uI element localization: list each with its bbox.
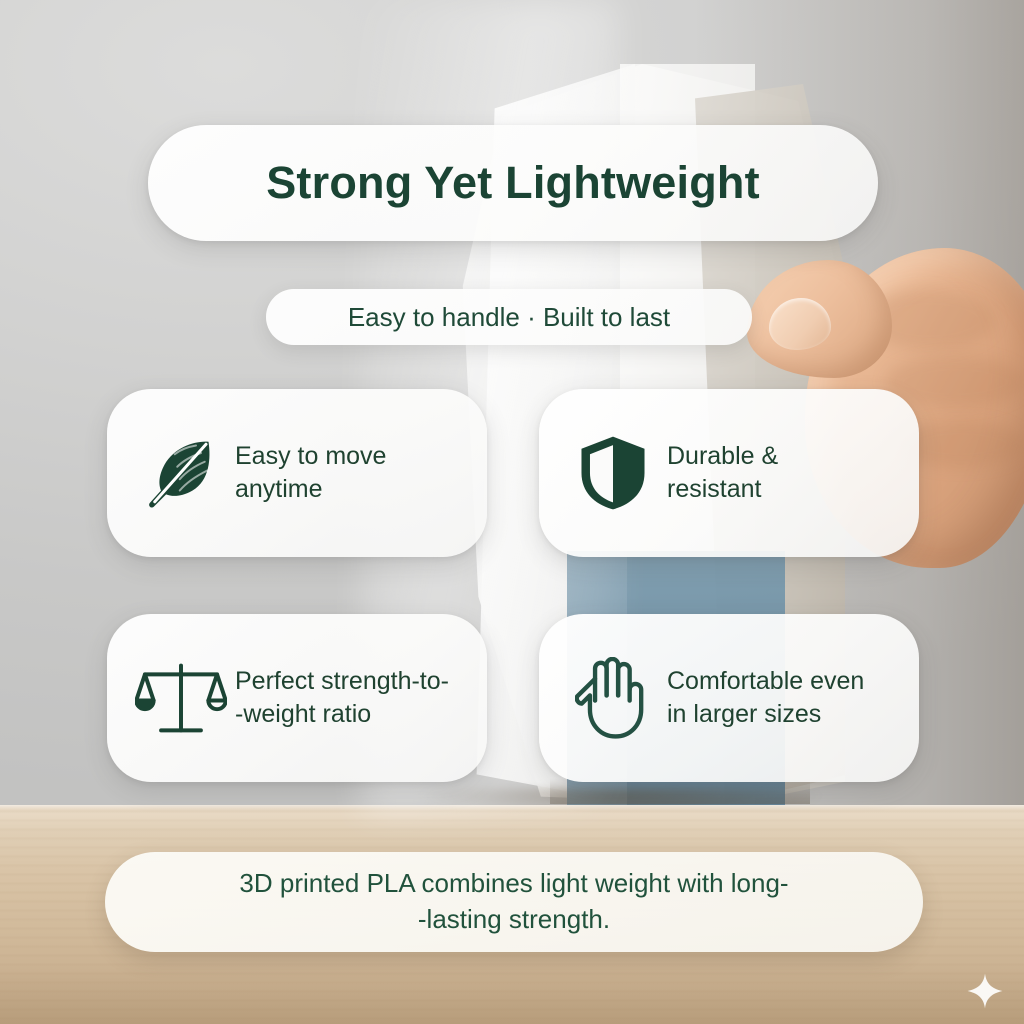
- feature-label: Comfortable even in larger sizes: [667, 665, 893, 731]
- page-title: Strong Yet Lightweight: [266, 157, 760, 209]
- footer-pill: 3D printed PLA combines light weight wit…: [105, 852, 923, 952]
- open-hand-icon: [565, 650, 661, 746]
- footer-text: 3D printed PLA combines light weight wit…: [239, 866, 788, 938]
- feature-card-comfortable[interactable]: Comfortable even in larger sizes: [539, 614, 919, 782]
- feature-label: Easy to move anytime: [235, 440, 386, 506]
- infographic-overlay: Strong Yet Lightweight Easy to handle · …: [0, 0, 1024, 1024]
- subtitle-pill: Easy to handle · Built to last: [266, 289, 752, 345]
- feature-label: Perfect strength-to- -weight ratio: [235, 665, 461, 731]
- sparkle-icon: [966, 972, 1004, 1010]
- title-pill: Strong Yet Lightweight: [148, 125, 878, 241]
- feature-label: Durable & resistant: [667, 440, 778, 506]
- feature-card-easy-to-move[interactable]: Easy to move anytime: [107, 389, 487, 557]
- feature-card-durable[interactable]: Durable & resistant: [539, 389, 919, 557]
- feather-icon: [133, 425, 229, 521]
- page-subtitle: Easy to handle · Built to last: [348, 302, 670, 333]
- shield-icon: [565, 425, 661, 521]
- balance-scale-icon: [133, 650, 229, 746]
- feature-card-strength-to-weight[interactable]: Perfect strength-to- -weight ratio: [107, 614, 487, 782]
